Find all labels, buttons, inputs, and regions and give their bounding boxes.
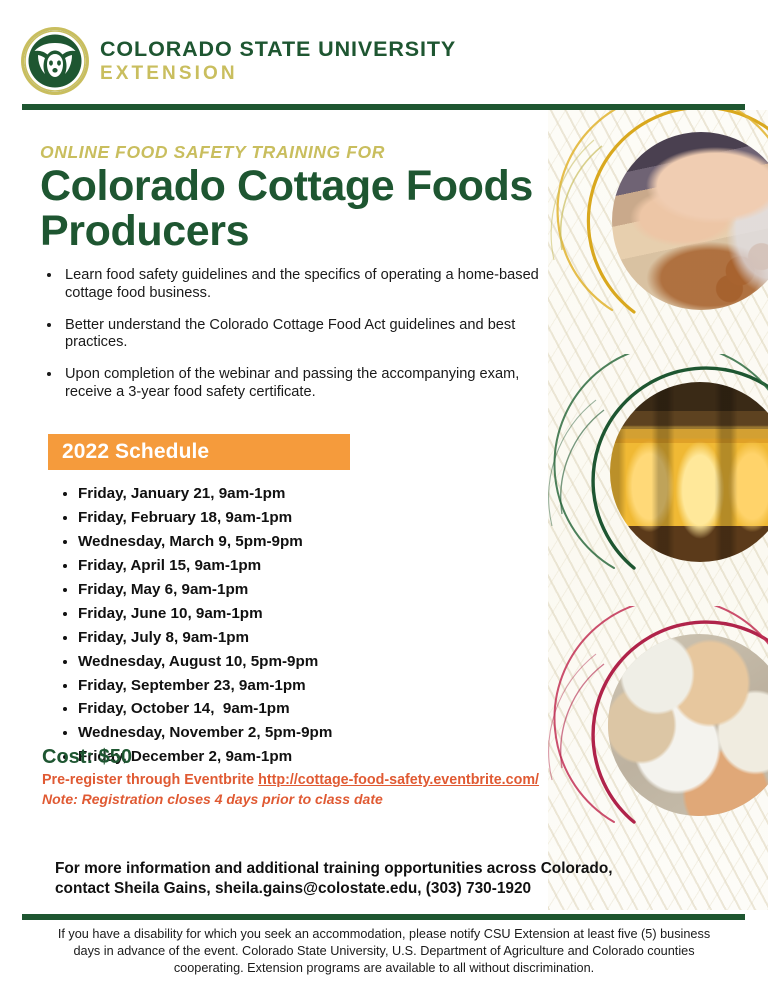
list-item: Friday, January 21, 9am-1pm	[78, 482, 498, 506]
list-item: Learn food safety guidelines and the spe…	[62, 267, 570, 303]
eventbrite-link[interactable]: http://cottage-food-safety.eventbrite.co…	[258, 772, 539, 788]
list-item: Upon completion of the webinar and passi…	[62, 366, 570, 402]
list-item: Friday, September 23, 9am-1pm	[78, 674, 498, 698]
list-item: Friday, April 15, 9am-1pm	[78, 554, 498, 578]
cookies-in-bag-photo	[612, 132, 768, 310]
registration-note: Note: Registration closes 4 days prior t…	[42, 791, 383, 807]
contact-line-1: For more information and additional trai…	[55, 859, 695, 879]
cost-text: Cost: $50	[42, 746, 132, 769]
benefits-list: Learn food safety guidelines and the spe…	[40, 267, 570, 416]
list-item: Friday, December 2, 9am-1pm	[78, 745, 498, 769]
preregister-line: Pre-register through Eventbrite http://c…	[42, 772, 539, 788]
list-item: Wednesday, August 10, 5pm-9pm	[78, 650, 498, 674]
list-item: Better understand the Colorado Cottage F…	[62, 317, 570, 353]
header: COLORADO STATE UNIVERSITY EXTENSION	[0, 0, 768, 105]
logo-line-extension: EXTENSION	[100, 64, 456, 83]
preregister-prefix: Pre-register through Eventbrite	[42, 772, 258, 788]
list-item: Friday, October 14, 9am-1pm	[78, 697, 498, 721]
list-item: Friday, June 10, 9am-1pm	[78, 602, 498, 626]
contact-block: For more information and additional trai…	[55, 859, 695, 900]
schedule-banner: 2022 Schedule	[48, 434, 350, 470]
list-item: Friday, July 8, 9am-1pm	[78, 626, 498, 650]
csu-extension-logo: COLORADO STATE UNIVERSITY EXTENSION	[24, 30, 456, 92]
disclaimer-text: If you have a disability for which you s…	[46, 926, 722, 977]
schedule-banner-label: 2022 Schedule	[62, 440, 209, 464]
photo-column	[548, 110, 768, 910]
list-item: Friday, May 6, 9am-1pm	[78, 578, 498, 602]
list-item: Wednesday, March 9, 5pm-9pm	[78, 530, 498, 554]
bottom-divider-rule	[22, 914, 745, 920]
csu-ram-logo-icon	[24, 30, 86, 92]
logo-line-university: COLORADO STATE UNIVERSITY	[100, 39, 456, 61]
list-item: Friday, February 18, 9am-1pm	[78, 506, 498, 530]
contact-line-2: contact Sheila Gains, sheila.gains@colos…	[55, 879, 695, 899]
flyer-page: COLORADO STATE UNIVERSITY EXTENSION	[0, 0, 768, 994]
honey-jars-photo	[610, 382, 768, 562]
schedule-list: Friday, January 21, 9am-1pm Friday, Febr…	[52, 482, 498, 769]
page-title: Colorado Cottage Foods Producers	[40, 164, 560, 253]
eyebrow-text: ONLINE FOOD SAFETY TRAINING FOR	[40, 142, 385, 163]
list-item: Wednesday, November 2, 5pm-9pm	[78, 721, 498, 745]
eggs-in-carton-photo	[608, 634, 768, 816]
